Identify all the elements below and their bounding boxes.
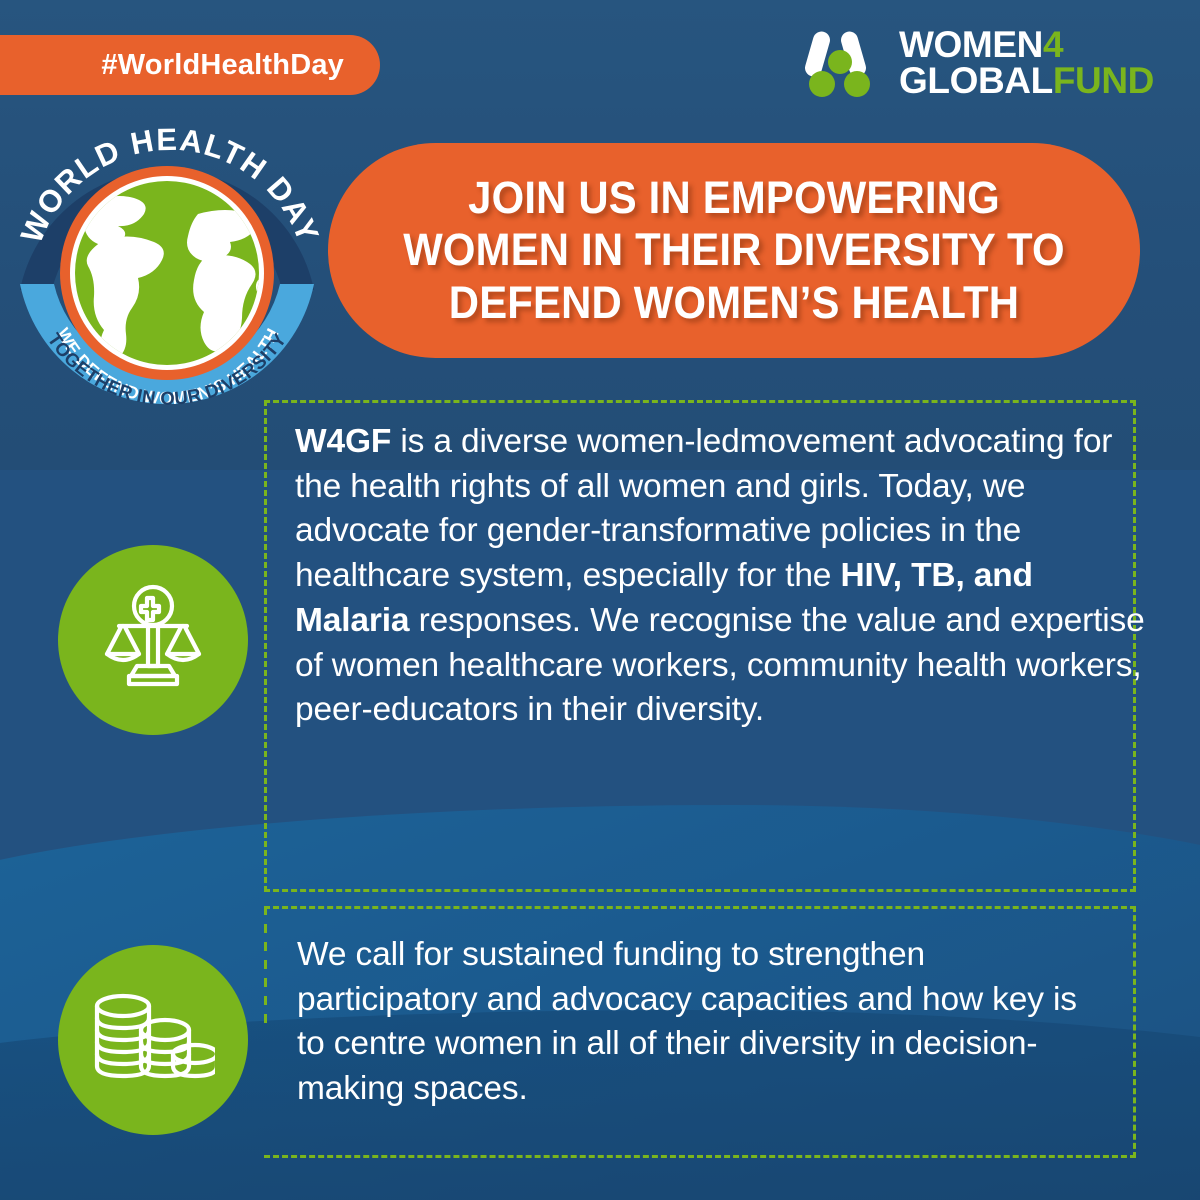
paragraph-2-seg-0: We call for sustained funding to strengt… bbox=[297, 936, 1077, 1107]
poster-canvas: #WorldHealthDay WOMEN4 GLOBALFUND bbox=[0, 0, 1200, 1200]
stacked-coins-icon bbox=[58, 945, 248, 1135]
hashtag-pill: #WorldHealthDay bbox=[0, 35, 380, 95]
content-box-2-left-edge bbox=[264, 906, 267, 1024]
women4globalfund-logo: WOMEN4 GLOBALFUND bbox=[801, 27, 1154, 99]
headline-banner: JOIN US IN EMPOWERING WOMEN IN THEIR DIV… bbox=[328, 143, 1140, 358]
paragraph-1-seg-0: W4GF bbox=[295, 423, 391, 460]
logo-line2-main: GLOBAL bbox=[899, 60, 1053, 101]
logo-line1-main: WOMEN bbox=[899, 24, 1043, 65]
paragraph-1-seg-3: responses. We recognise the value and ex… bbox=[295, 602, 1145, 728]
logo-wordmark: WOMEN4 GLOBALFUND bbox=[899, 27, 1154, 99]
world-health-day-badge: WORLD HEALTH DAY WE DEFEND WOMEN’S HEALT… bbox=[12, 108, 322, 408]
paragraph-1: W4GF is a diverse women-ledmovement advo… bbox=[295, 420, 1150, 733]
logo-line2-accent: FUND bbox=[1053, 60, 1154, 101]
logo-line1-accent: 4 bbox=[1043, 24, 1063, 65]
w4gf-w-mark-icon bbox=[801, 29, 881, 97]
paragraph-2: We call for sustained funding to strengt… bbox=[297, 933, 1097, 1112]
hashtag-label: #WorldHealthDay bbox=[101, 49, 344, 82]
scales-of-justice-medical-icon bbox=[58, 545, 248, 735]
page-title: JOIN US IN EMPOWERING WOMEN IN THEIR DIV… bbox=[356, 172, 1111, 330]
